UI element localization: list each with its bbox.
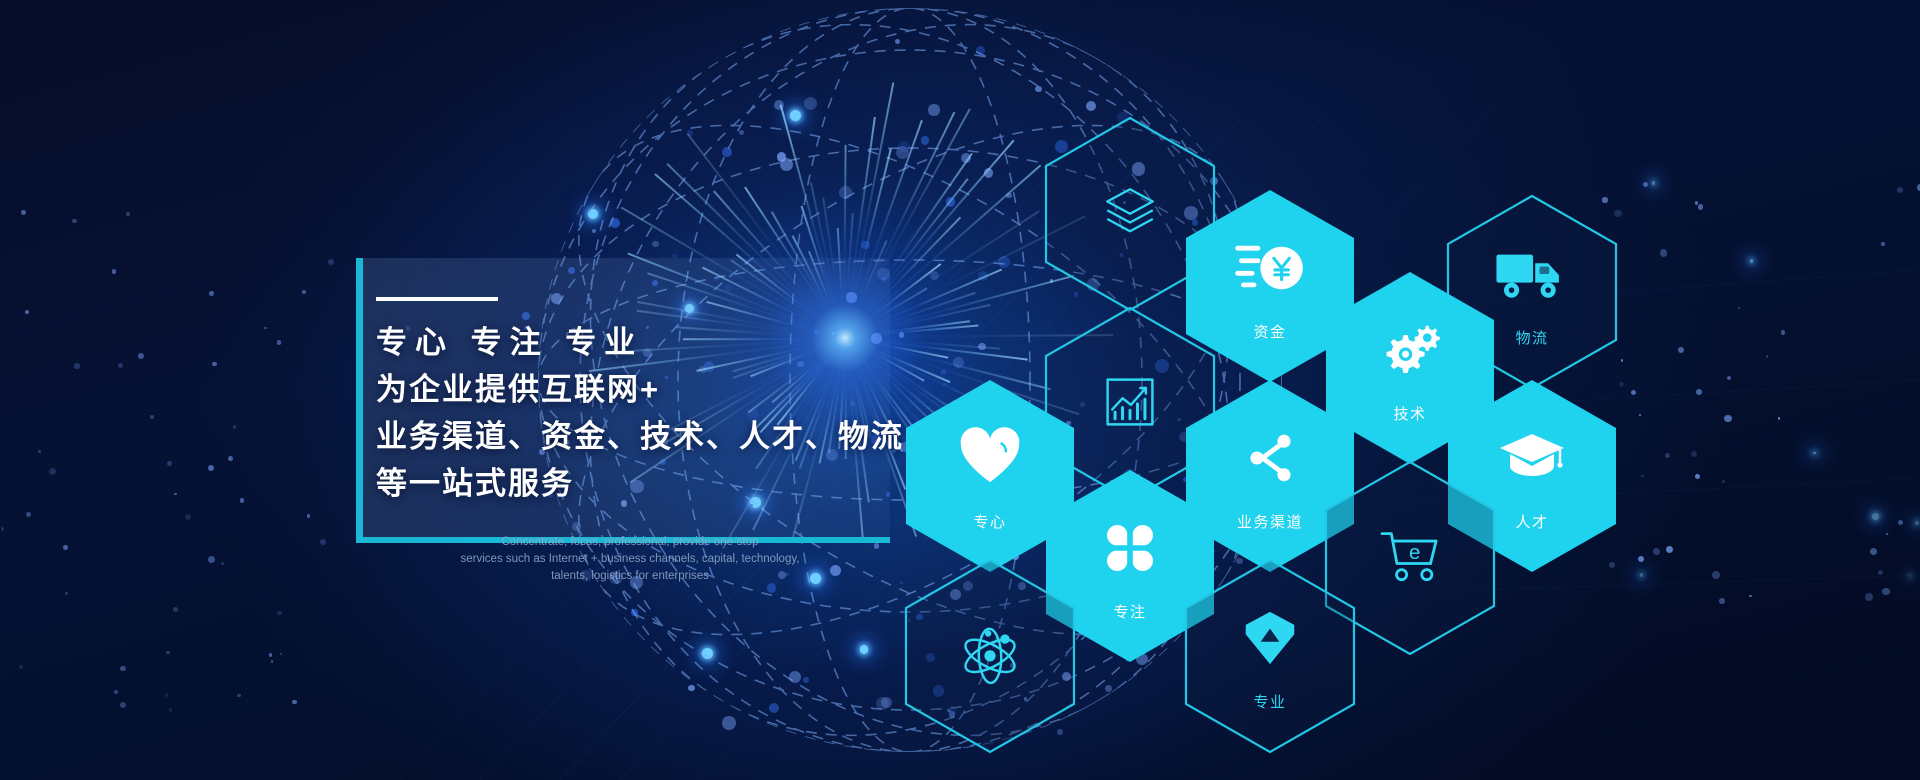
particle-dot xyxy=(271,660,273,662)
particle-dot xyxy=(212,362,216,366)
particle-dot xyxy=(114,690,118,694)
particle-dot xyxy=(72,219,76,223)
particle-dot xyxy=(169,708,172,711)
particle-dot xyxy=(264,327,267,330)
particle-dot xyxy=(1641,475,1643,477)
particle-dot xyxy=(688,685,695,692)
particle-dot xyxy=(1724,415,1731,422)
particle-dot xyxy=(1882,588,1890,596)
particle-dot xyxy=(1813,452,1815,454)
particle-dot xyxy=(1105,685,1112,692)
particle-dot xyxy=(38,450,42,454)
particle-dot xyxy=(652,241,658,247)
particle-dot xyxy=(1738,307,1740,309)
particle-dot xyxy=(1638,556,1644,562)
particle-dot xyxy=(978,271,988,281)
particle-dot xyxy=(173,607,178,612)
particle-dot xyxy=(895,39,900,44)
headline-line-2: 为企业提供互联网+ xyxy=(376,366,936,413)
particle-dot xyxy=(208,556,215,563)
particle-dot xyxy=(588,209,598,219)
headline-block: 专心 专注 专业 为企业提供互联网+ 业务渠道、资金、技术、人才、物流 等一站式… xyxy=(376,319,936,507)
particle-dot xyxy=(953,357,965,369)
particle-dot xyxy=(1727,376,1731,380)
particle-dot xyxy=(208,465,214,471)
particle-dot xyxy=(861,241,870,250)
particle-dot xyxy=(120,666,125,671)
particle-dot xyxy=(739,130,744,135)
particle-dot xyxy=(592,229,596,233)
particle-dot xyxy=(292,700,296,704)
particle-dot xyxy=(1712,571,1720,579)
particle-dot xyxy=(328,259,334,265)
particle-dot xyxy=(1660,249,1668,257)
headline-line-4: 等一站式服务 xyxy=(376,460,936,507)
particle-dot xyxy=(1872,513,1879,520)
particle-dot xyxy=(126,212,130,216)
particle-dot xyxy=(1750,259,1753,262)
particle-dot xyxy=(1643,182,1648,187)
particle-dot xyxy=(978,343,985,350)
particle-dot xyxy=(1870,548,1877,555)
particle-dot xyxy=(1695,201,1698,204)
particle-dot xyxy=(228,456,233,461)
particle-dot xyxy=(1749,595,1752,598)
particle-dot xyxy=(804,97,818,111)
particle-dot xyxy=(1691,451,1697,457)
particle-dot xyxy=(237,694,241,698)
particle-dot xyxy=(722,716,736,730)
particle-dot xyxy=(307,514,311,518)
particle-dot xyxy=(1915,521,1919,525)
particle-dot xyxy=(881,697,891,707)
hero-banner: 专心 专注 专业 为企业提供互联网+ 业务渠道、资金、技术、人才、物流 等一站式… xyxy=(0,0,1920,780)
particle-dot xyxy=(1619,382,1624,387)
particle-dot xyxy=(1719,598,1725,604)
particle-dot xyxy=(63,545,68,550)
headline-content: 专心 专注 专业 为企业提供互联网+ 业务渠道、资金、技术、人才、物流 等一站式… xyxy=(376,258,936,507)
particle-dot xyxy=(302,290,306,294)
particle-dot xyxy=(928,104,939,115)
particle-dot xyxy=(1639,414,1641,416)
particle-dot xyxy=(900,581,903,584)
particle-dot xyxy=(138,353,145,360)
particle-dot xyxy=(1778,417,1780,419)
particle-dot xyxy=(1898,520,1903,525)
headline-line-1: 专心 专注 专业 xyxy=(376,319,936,366)
particle-dot xyxy=(1678,347,1684,353)
particle-dot xyxy=(1640,573,1643,576)
particle-dot xyxy=(998,256,1010,268)
headline-rule xyxy=(376,297,498,301)
gears-icon xyxy=(1326,322,1494,378)
particle-dot xyxy=(874,543,880,549)
particle-dot xyxy=(277,340,282,345)
hex-label-professional: 专业 xyxy=(1186,695,1354,710)
particle-dot xyxy=(1722,480,1725,483)
particle-dot xyxy=(1631,390,1636,395)
particle-dot xyxy=(941,370,945,374)
particle-dot xyxy=(976,46,985,55)
particle-dot xyxy=(150,415,154,419)
particle-dot xyxy=(1666,546,1673,553)
particle-dot xyxy=(26,512,31,517)
svg-text:e: e xyxy=(1409,541,1420,564)
particle-dot xyxy=(65,592,67,594)
particle-dot xyxy=(1881,242,1885,246)
particle-dot xyxy=(21,210,26,215)
particle-dot xyxy=(120,702,126,708)
particle-dot xyxy=(1865,593,1873,601)
particle-dot xyxy=(1897,187,1903,193)
particle-dot xyxy=(1086,101,1096,111)
particle-dot xyxy=(1665,453,1670,458)
particle-dot xyxy=(1907,573,1912,578)
particle-dot xyxy=(769,703,779,713)
particle-dot xyxy=(1766,355,1769,358)
particle-dot xyxy=(118,363,123,368)
particle-dot xyxy=(166,651,170,655)
particle-dot xyxy=(25,310,29,314)
particle-dot xyxy=(722,147,732,157)
particle-dot xyxy=(74,363,79,368)
particle-dot xyxy=(774,100,784,110)
particle-dot xyxy=(1698,204,1703,209)
particle-dot xyxy=(631,609,638,616)
particle-dot xyxy=(984,168,994,178)
particle-dot xyxy=(610,218,620,228)
particle-dot xyxy=(269,653,272,656)
particle-dot xyxy=(1006,193,1011,198)
particle-dot xyxy=(1886,533,1888,535)
particle-dot xyxy=(112,269,116,273)
particle-dot xyxy=(1,527,4,530)
particle-dot xyxy=(1621,359,1623,361)
particle-dot xyxy=(280,653,282,655)
particle-dot xyxy=(777,152,786,161)
particle-dot xyxy=(185,514,191,520)
particle-dot xyxy=(839,186,852,199)
particle-dot xyxy=(1035,86,1041,92)
particle-dot xyxy=(49,468,56,475)
particle-dot xyxy=(165,693,168,696)
particle-dot xyxy=(1695,474,1701,480)
particle-dot xyxy=(277,611,282,616)
atom-icon xyxy=(906,626,1074,682)
particle-dot xyxy=(803,677,809,683)
particle-dot xyxy=(1652,181,1655,184)
headline-line-3: 业务渠道、资金、技术、人才、物流 xyxy=(376,413,936,460)
particle-dot xyxy=(221,562,224,565)
particle-dot xyxy=(1878,570,1883,575)
particle-dot xyxy=(860,645,869,654)
particle-dot xyxy=(1781,330,1785,334)
particle-dot xyxy=(702,648,713,659)
diamond-icon xyxy=(1186,610,1354,666)
subtitle-line-3: talents, logistics for enterprises xyxy=(420,568,840,585)
subtitle-line-2: services such as Internet + business cha… xyxy=(420,551,840,568)
particle-dot xyxy=(1696,389,1702,395)
particle-dot xyxy=(921,136,930,145)
particle-dot xyxy=(1653,548,1660,555)
particle-dot xyxy=(687,130,693,136)
particle-dot xyxy=(167,461,172,466)
hex-tile-atom[interactable] xyxy=(906,560,1074,752)
particle-dot xyxy=(790,110,801,121)
particle-dot xyxy=(961,153,971,163)
particle-dot xyxy=(233,425,236,428)
particle-dot xyxy=(320,539,326,545)
subtitle-block: Concentrate, focus, professional, provid… xyxy=(420,534,840,585)
particle-dot xyxy=(19,665,23,669)
subtitle-line-1: Concentrate, focus, professional, provid… xyxy=(420,534,840,551)
particle-dot xyxy=(209,291,214,296)
particle-dot xyxy=(789,671,801,683)
particle-dot xyxy=(946,197,956,207)
particle-dot xyxy=(174,493,177,496)
particle-dot xyxy=(240,498,244,502)
hex-tile-professional[interactable]: 专业 xyxy=(1186,560,1354,752)
particle-dot xyxy=(896,146,909,159)
